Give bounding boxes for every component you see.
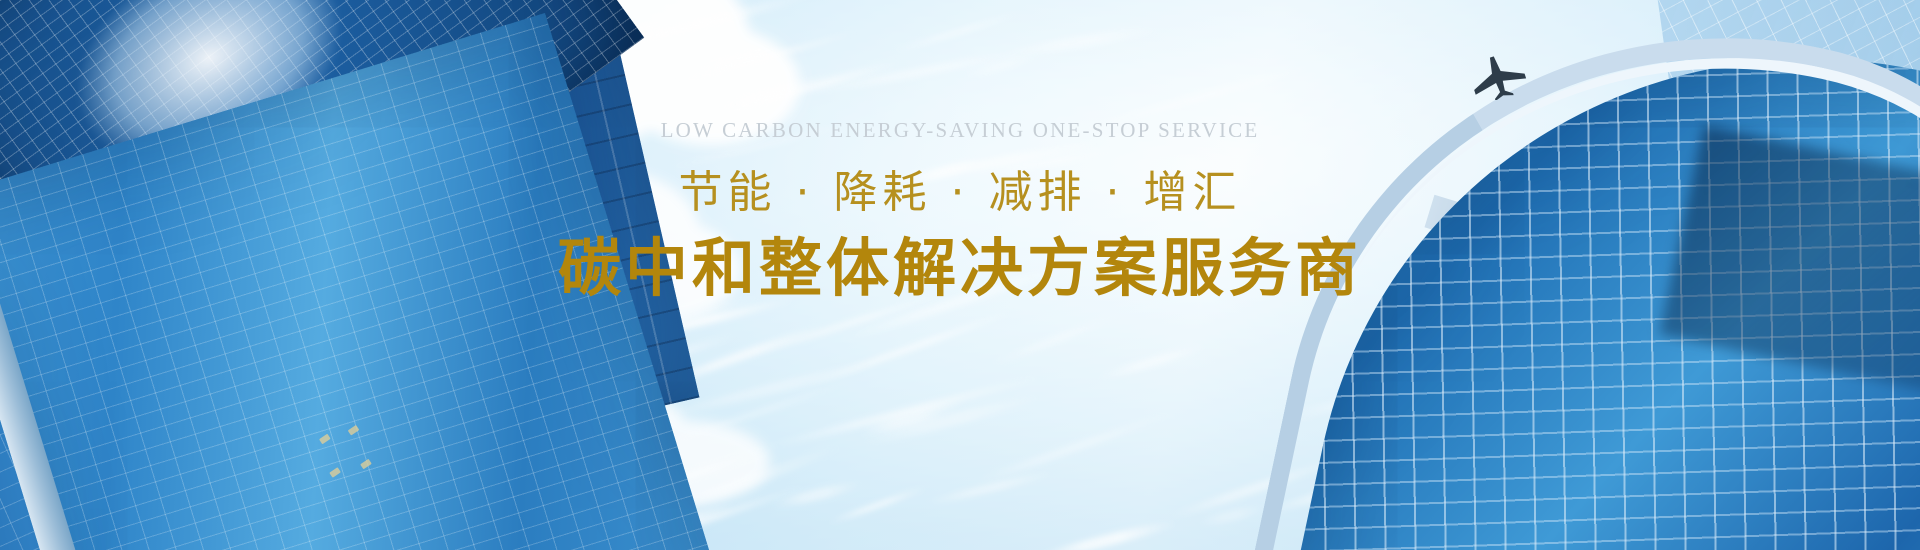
banner-headline-text: 碳中和整体解决方案服务商 — [0, 231, 1920, 307]
airplane-icon — [1466, 52, 1530, 100]
banner-copy-block: LOW CARBON ENERGY-SAVING ONE-STOP SERVIC… — [0, 120, 1920, 307]
banner-eyebrow-text: LOW CARBON ENERGY-SAVING ONE-STOP SERVIC… — [0, 120, 1920, 141]
hero-banner: LOW CARBON ENERGY-SAVING ONE-STOP SERVIC… — [0, 0, 1920, 550]
banner-subtitle-text: 节能 · 降耗 · 减排 · 增汇 — [0, 167, 1920, 219]
